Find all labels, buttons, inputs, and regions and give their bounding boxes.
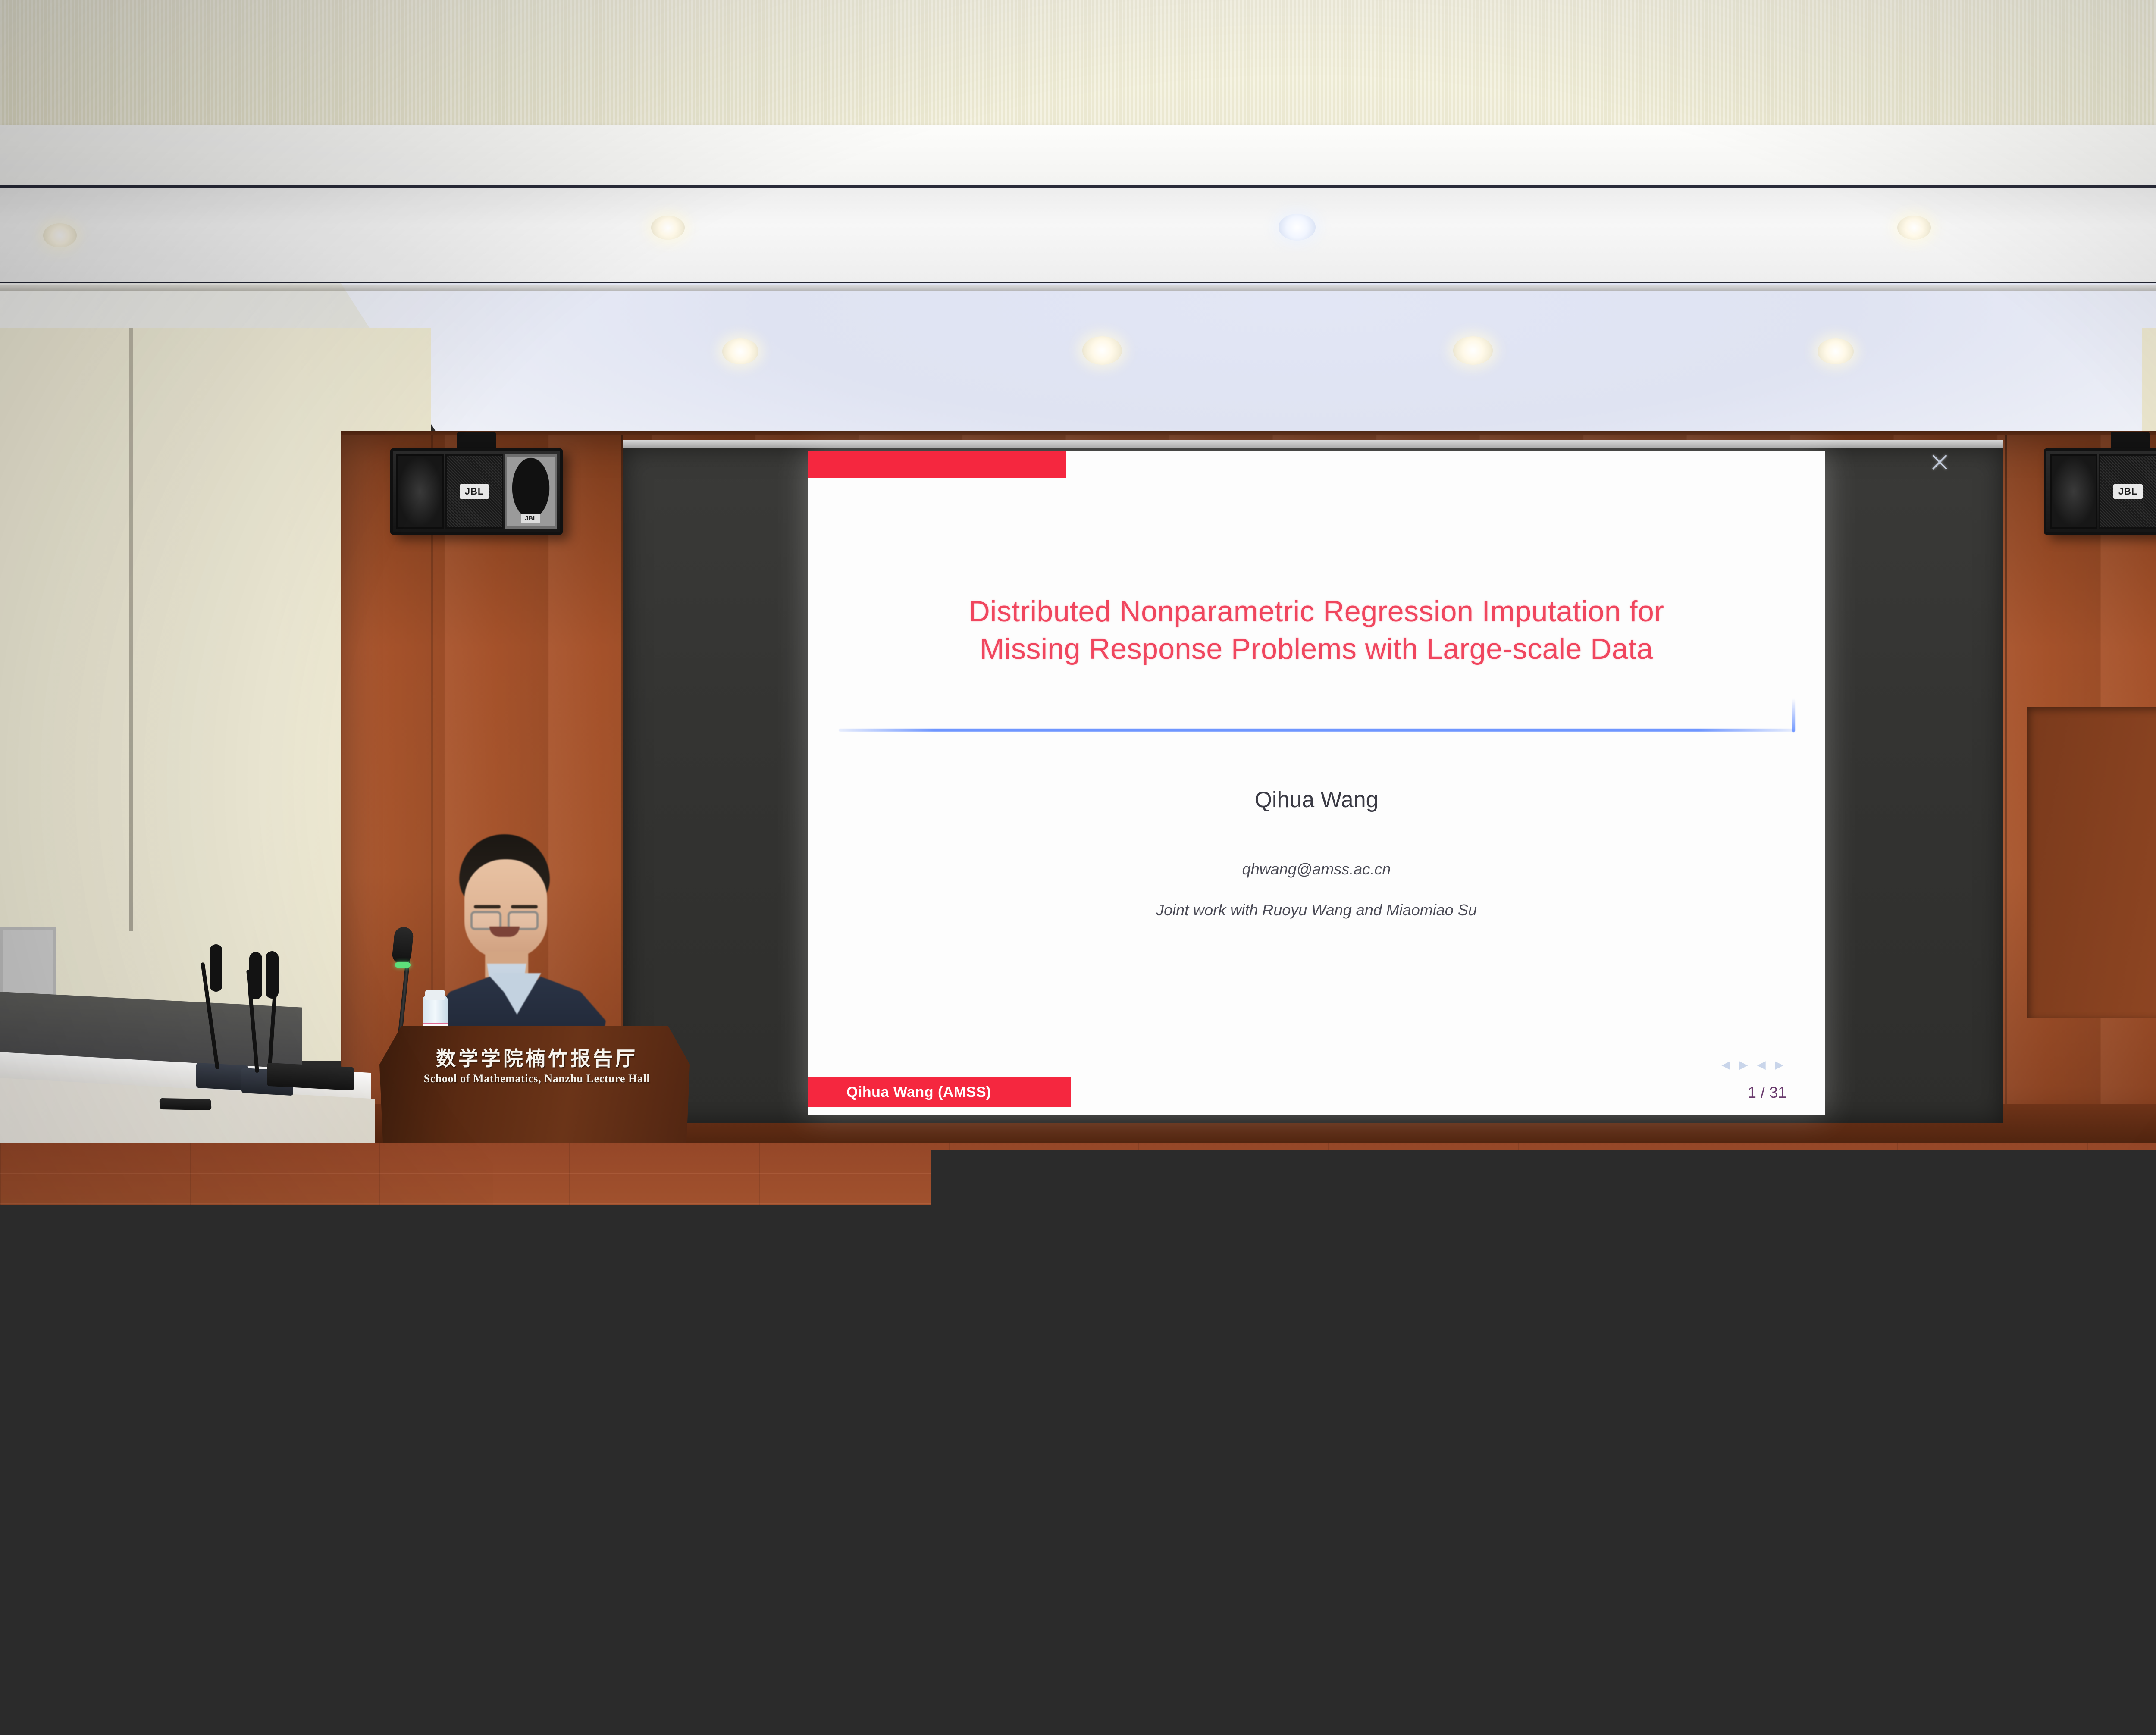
phone-screen <box>1574 1262 1597 1309</box>
ceiling-reveal-strip <box>0 285 2156 291</box>
downlight <box>1082 336 1122 365</box>
slide-title-underline <box>839 729 1794 732</box>
lectern-sign-chinese: 数学学院楠竹报告厅 <box>436 1043 638 1071</box>
paper-cup <box>983 1336 1010 1400</box>
wall-speaker-right: JBL <box>2044 448 2156 535</box>
conference-mic-base <box>196 1063 248 1090</box>
speaker-grille: JBL <box>2099 454 2156 529</box>
downlight <box>651 216 685 240</box>
seat-armrest <box>987 1651 1044 1666</box>
seat-armrest <box>1518 1673 1574 1688</box>
slide-author-email: qhwang@amss.ac.cn <box>808 860 1825 878</box>
gooseneck-mic-head <box>210 944 222 992</box>
projection-screen-rail <box>623 440 2003 449</box>
screen-alignment-marker-icon: ⨉ <box>1932 455 1947 471</box>
downlight <box>1818 338 1854 364</box>
presenter-eyebrow <box>474 905 501 908</box>
remote-control[interactable] <box>160 1098 212 1110</box>
presenter-face <box>464 859 547 958</box>
jbl-logo: JBL <box>2113 484 2143 499</box>
presenter-v-neck-collar <box>493 973 541 1015</box>
ceiling-soffit-band <box>0 185 2156 285</box>
slide-author-name: Qihua Wang <box>808 787 1825 813</box>
slide-joint-work-note: Joint work with Ruoyu Wang and Miaomiao … <box>808 901 1825 919</box>
slide-header-accent-bar <box>808 451 1066 478</box>
audience-desk <box>897 1371 1199 1513</box>
gooseneck-mic-head <box>266 951 279 999</box>
auditorium-seat[interactable] <box>1591 1414 1841 1690</box>
smartphone[interactable] <box>1570 1257 1601 1313</box>
lecture-hall-photo: Distributed Nonparametric Regression Imp… <box>0 0 2156 1735</box>
presenter-eyebrow <box>511 905 538 908</box>
wall-speaker-left: JBL <box>390 448 563 535</box>
downlight <box>1279 214 1316 241</box>
slide-nav-icons[interactable]: ◀ ▶ ◀ ▶ <box>1721 1058 1786 1071</box>
wood-panel-seam <box>2005 435 2007 1143</box>
slide-title-line-1: Distributed Nonparametric Regression Imp… <box>834 593 1799 630</box>
auditorium-seat[interactable] <box>1919 1634 2156 1735</box>
wall-seam <box>129 328 133 931</box>
downlight <box>722 338 758 364</box>
speaker-grille: JBL <box>445 454 503 529</box>
downlight <box>1897 216 1931 240</box>
ceiling-cream-band <box>0 0 2156 129</box>
downlight <box>1453 336 1493 365</box>
gooseneck-mic-head <box>249 952 262 999</box>
slide-footer-label: Qihua Wang (AMSS) <box>846 1084 991 1101</box>
auditorium-seat[interactable] <box>172 1595 431 1735</box>
av-control-box <box>267 1063 354 1090</box>
water-bottle-cap <box>425 990 445 1000</box>
downlight <box>43 223 77 247</box>
lectern-name-sign: 数学学院楠竹报告厅 School of Mathematics, Nanzhu … <box>388 1033 686 1095</box>
slide-title-block: Distributed Nonparametric Regression Imp… <box>834 593 1799 668</box>
mic-status-led <box>395 962 411 968</box>
hair-clip <box>13 1453 34 1508</box>
desk-top-surface <box>897 1371 1199 1390</box>
lectern-sign-english: School of Mathematics, Nanzhu Lecture Ha… <box>424 1072 650 1085</box>
slide-page-number: 1 / 31 <box>1748 1084 1786 1102</box>
wall-niche <box>2027 707 2156 1018</box>
projected-slide: Distributed Nonparametric Regression Imp… <box>808 451 1825 1115</box>
auditorium-seat[interactable] <box>0 1552 160 1735</box>
jbl-logo: JBL <box>460 484 489 499</box>
slide-footer-bar: Qihua Wang (AMSS) <box>808 1077 1071 1107</box>
slide-title-line-2: Missing Response Problems with Large-sca… <box>834 630 1799 668</box>
auditorium-seat[interactable] <box>699 1608 966 1735</box>
audience-hand <box>1535 1263 1572 1315</box>
speaker-tweeter-horn <box>505 454 557 529</box>
speaker-horn-icon <box>2050 454 2097 529</box>
speaker-horn-icon <box>396 454 444 529</box>
